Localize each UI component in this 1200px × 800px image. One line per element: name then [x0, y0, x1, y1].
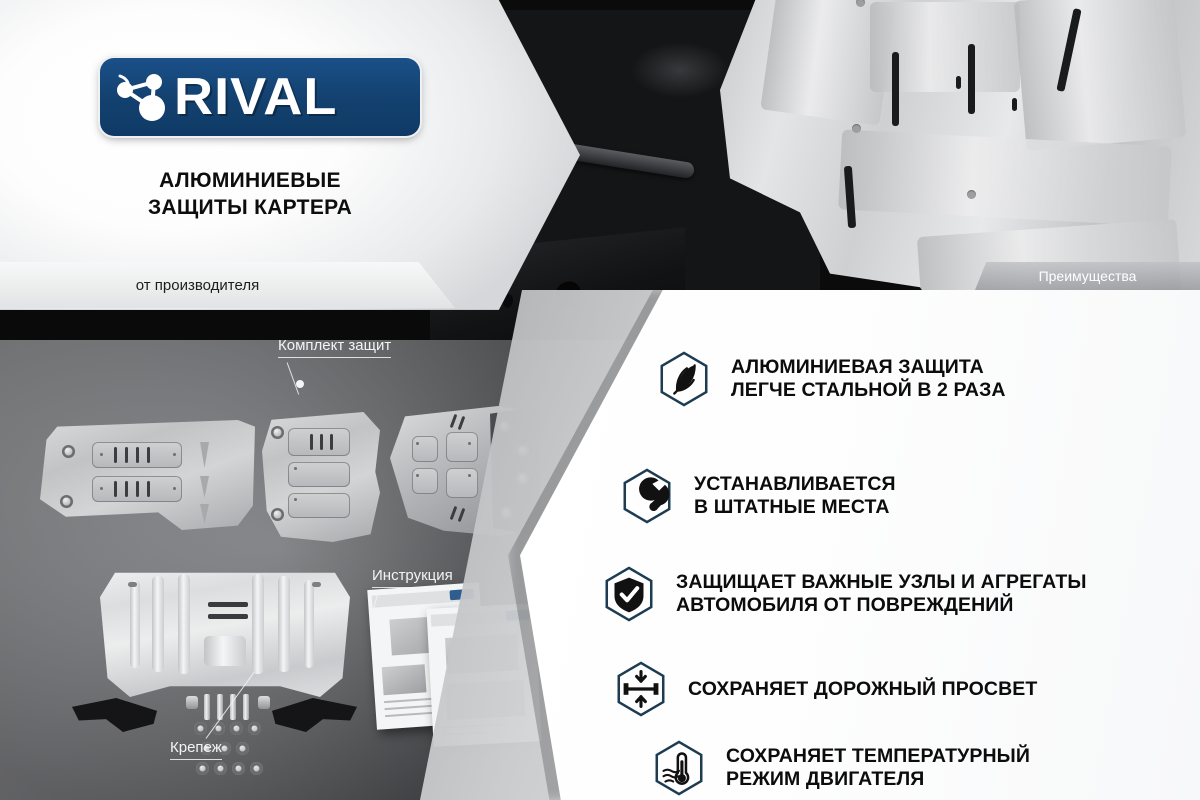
- advantage-item-5: СОХРАНЯЕТ ТЕМПЕРАТУРНЫЙ РЕЖИМ ДВИГАТЕЛЯ: [650, 739, 1030, 797]
- advantages-panel: АЛЮМИНИЕВАЯ ЗАЩИТА ЛЕГЧЕ СТАЛЬНОЙ В 2 РА…: [520, 290, 1200, 800]
- promo-banner: RIVAL АЛЮМИНИЕВЫЕ ЗАЩИТЫ КАРТЕРА от прои…: [0, 0, 1200, 800]
- callout-instruction: Инструкция: [372, 567, 453, 588]
- headline-line-2: ЗАЩИТЫ КАРТЕРА: [0, 195, 500, 222]
- advantage-item-2: УСТАНАВЛИВАЕТСЯ В ШТАТНЫЕ МЕСТА: [618, 467, 896, 525]
- ground-clearance-icon: [612, 660, 670, 718]
- rival-logo: RIVAL: [100, 58, 420, 136]
- headline-line-1: АЛЮМИНИЕВЫЕ: [0, 168, 500, 195]
- advantage-text-1: АЛЮМИНИЕВАЯ ЗАЩИТА ЛЕГЧЕ СТАЛЬНОЙ В 2 РА…: [731, 356, 1006, 402]
- advantages-ribbon-label: Преимущества: [1039, 268, 1137, 284]
- wrench-icon: [618, 467, 676, 525]
- feather-icon: [655, 350, 713, 408]
- advantage-item-1: АЛЮМИНИЕВАЯ ЗАЩИТА ЛЕГЧЕ СТАЛЬНОЙ В 2 РА…: [655, 350, 1006, 408]
- molecule-icon: [110, 66, 172, 128]
- thermometer-icon: [650, 739, 708, 797]
- callout-kit: Комплект защит: [278, 340, 391, 358]
- advantage-text-3: ЗАЩИЩАЕТ ВАЖНЫЕ УЗЛЫ И АГРЕГАТЫ АВТОМОБИ…: [676, 571, 1087, 617]
- shield-check-icon: [600, 565, 658, 623]
- tagline-text: от производителя: [136, 277, 259, 294]
- advantage-item-3: ЗАЩИЩАЕТ ВАЖНЫЕ УЗЛЫ И АГРЕГАТЫ АВТОМОБИ…: [600, 565, 1087, 623]
- main-engine-shield: [100, 562, 350, 697]
- callout-kit-dot: [296, 380, 304, 388]
- advantage-text-5: СОХРАНЯЕТ ТЕМПЕРАТУРНЫЙ РЕЖИМ ДВИГАТЕЛЯ: [726, 745, 1030, 791]
- advantages-ribbon: Преимущества: [975, 262, 1200, 290]
- callout-hardware: Крепеж: [170, 739, 222, 760]
- advantage-item-4: СОХРАНЯЕТ ДОРОЖНЫЙ ПРОСВЕТ: [612, 660, 1037, 718]
- logo-wordmark: RIVAL: [174, 71, 337, 123]
- tagline-bar: от производителя: [0, 262, 455, 308]
- advantage-text-4: СОХРАНЯЕТ ДОРОЖНЫЙ ПРОСВЕТ: [688, 678, 1037, 701]
- page-title: АЛЮМИНИЕВЫЕ ЗАЩИТЫ КАРТЕРА: [0, 168, 500, 222]
- skid-plate-middle: [262, 412, 380, 542]
- skid-plate-left: [40, 420, 255, 530]
- advantage-text-2: УСТАНАВЛИВАЕТСЯ В ШТАТНЫЕ МЕСТА: [694, 473, 896, 519]
